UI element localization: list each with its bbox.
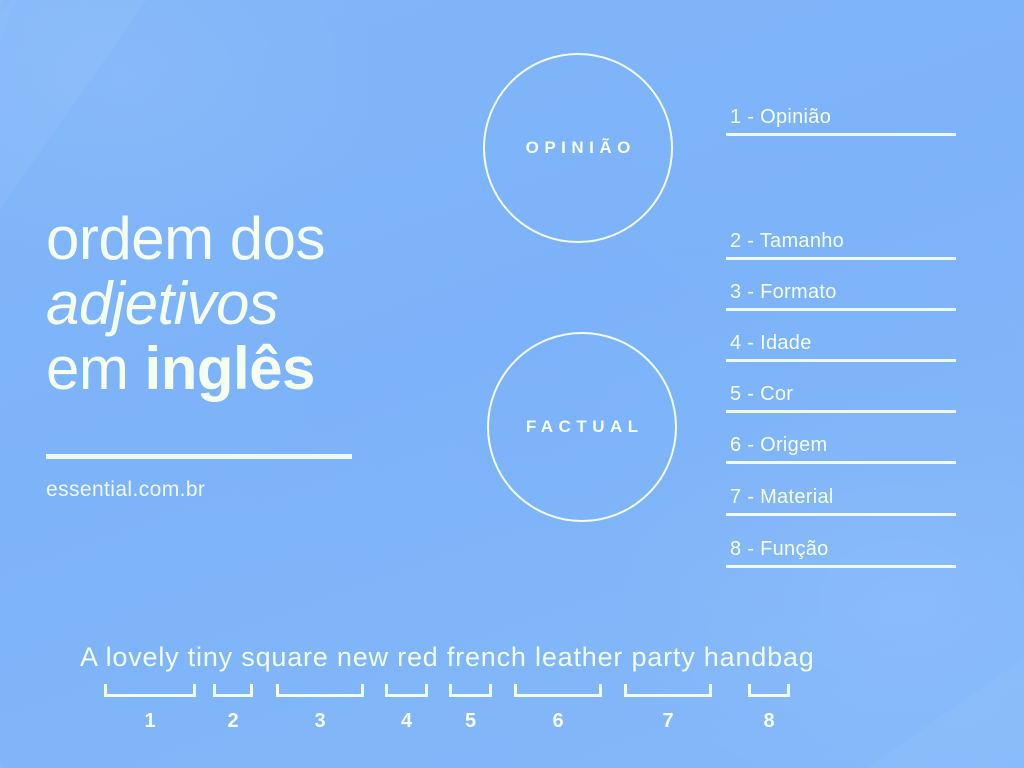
order-item-label: 4 - Idade bbox=[730, 332, 812, 355]
order-item-rule bbox=[726, 359, 956, 362]
order-item-label: 1 - Opinião bbox=[730, 106, 831, 129]
infographic-canvas: ordem dos adjetivos em inglês essential.… bbox=[0, 0, 1024, 768]
title-line-2: adjetivos bbox=[46, 271, 476, 336]
bracket-number-3: 3 bbox=[276, 710, 364, 733]
order-item-1: 1 - Opinião bbox=[726, 92, 956, 136]
circle-opiniao-label: OPINIÃO bbox=[520, 138, 636, 158]
title-line-3-prefix: em bbox=[46, 335, 145, 402]
order-item-rule bbox=[726, 257, 956, 260]
bracket-6 bbox=[514, 684, 602, 697]
order-item-label: 8 - Função bbox=[730, 538, 829, 561]
bracket-7 bbox=[624, 684, 712, 697]
bracket-5 bbox=[449, 684, 492, 697]
title-divider bbox=[46, 454, 352, 459]
title-line-3-bold: inglês bbox=[145, 335, 315, 402]
bracket-number-5: 5 bbox=[449, 710, 492, 733]
order-item-5: 5 - Cor bbox=[726, 369, 956, 413]
order-item-label: 7 - Material bbox=[730, 486, 834, 509]
page-title: ordem dos adjetivos em inglês bbox=[46, 206, 476, 401]
order-item-label: 2 - Tamanho bbox=[730, 230, 844, 253]
order-item-rule bbox=[726, 410, 956, 413]
bracket-1 bbox=[104, 684, 196, 697]
order-item-3: 3 - Formato bbox=[726, 267, 956, 311]
bracket-3 bbox=[276, 684, 364, 697]
order-item-label: 5 - Cor bbox=[730, 383, 793, 406]
order-item-4: 4 - Idade bbox=[726, 318, 956, 362]
circle-opiniao: OPINIÃO bbox=[483, 53, 673, 243]
bracket-number-4: 4 bbox=[385, 710, 428, 733]
order-item-6: 6 - Origem bbox=[726, 420, 956, 464]
order-item-2: 2 - Tamanho bbox=[726, 216, 956, 260]
bracket-number-8: 8 bbox=[748, 710, 790, 733]
order-item-rule bbox=[726, 461, 956, 464]
bracket-number-1: 1 bbox=[104, 710, 196, 733]
order-item-label: 3 - Formato bbox=[730, 281, 837, 304]
order-item-label: 6 - Origem bbox=[730, 434, 827, 457]
title-line-3: em inglês bbox=[46, 336, 476, 401]
bracket-number-6: 6 bbox=[514, 710, 602, 733]
bracket-number-2: 2 bbox=[213, 710, 253, 733]
order-item-rule bbox=[726, 308, 956, 311]
circle-factual-label: FACTUAL bbox=[520, 417, 643, 437]
title-line-1: ordem dos bbox=[46, 206, 476, 271]
order-item-7: 7 - Material bbox=[726, 472, 956, 516]
order-item-8: 8 - Função bbox=[726, 524, 956, 568]
bracket-8 bbox=[748, 684, 790, 697]
circle-factual: FACTUAL bbox=[487, 332, 677, 522]
order-item-rule bbox=[726, 133, 956, 136]
bracket-2 bbox=[213, 684, 253, 697]
order-item-rule bbox=[726, 565, 956, 568]
bracket-number-7: 7 bbox=[624, 710, 712, 733]
bracket-4 bbox=[385, 684, 428, 697]
site-url: essential.com.br bbox=[46, 478, 205, 502]
order-item-rule bbox=[726, 513, 956, 516]
example-sentence: A lovely tiny square new red french leat… bbox=[80, 642, 815, 673]
